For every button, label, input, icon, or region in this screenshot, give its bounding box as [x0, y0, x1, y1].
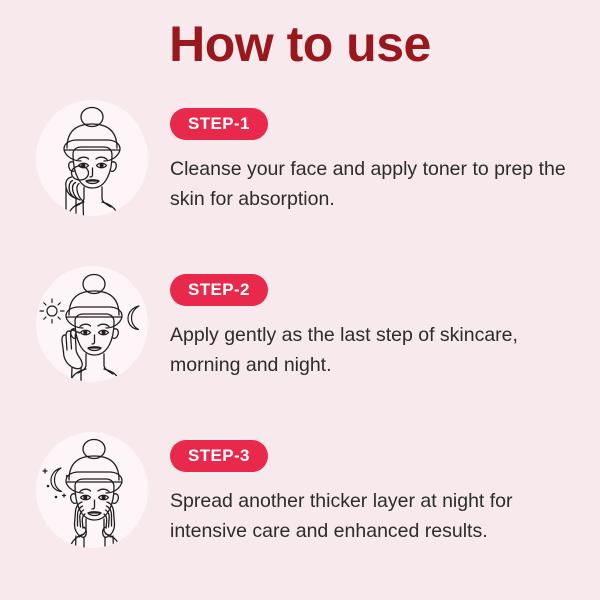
illustration-circle: [36, 100, 148, 216]
step-badge: STEP-3: [170, 440, 268, 472]
moon-icon: [128, 306, 139, 330]
moon-and-stars-icon: [43, 468, 68, 498]
step-content: STEP-2 Apply gently as the last step of …: [170, 262, 600, 380]
step-badge: STEP-1: [170, 108, 268, 140]
step-row: STEP-3 Spread another thicker layer at n…: [0, 428, 600, 594]
how-to-use-panel: How to use: [0, 0, 600, 600]
step-row: STEP-1 Cleanse your face and apply toner…: [0, 96, 600, 262]
step-row: STEP-2 Apply gently as the last step of …: [0, 262, 600, 428]
cleansing-face-icon: [36, 100, 148, 216]
sun-icon: [40, 299, 64, 323]
step-3-illustration: [36, 432, 148, 548]
step-content: STEP-3 Spread another thicker layer at n…: [170, 428, 600, 546]
night-massage-icon: [36, 432, 148, 548]
step-description: Spread another thicker layer at night fo…: [170, 486, 570, 546]
page-title: How to use: [0, 14, 600, 74]
illustration-circle: [36, 266, 148, 382]
step-content: STEP-1 Cleanse your face and apply toner…: [170, 96, 600, 214]
illustration-circle: [36, 432, 148, 548]
steps-list: STEP-1 Cleanse your face and apply toner…: [0, 96, 600, 594]
step-1-illustration: [36, 100, 148, 216]
step-description: Apply gently as the last step of skincar…: [170, 320, 570, 380]
step-description: Cleanse your face and apply toner to pre…: [170, 154, 570, 214]
apply-morning-night-icon: [36, 266, 148, 382]
step-2-illustration: [36, 266, 148, 382]
step-badge: STEP-2: [170, 274, 268, 306]
